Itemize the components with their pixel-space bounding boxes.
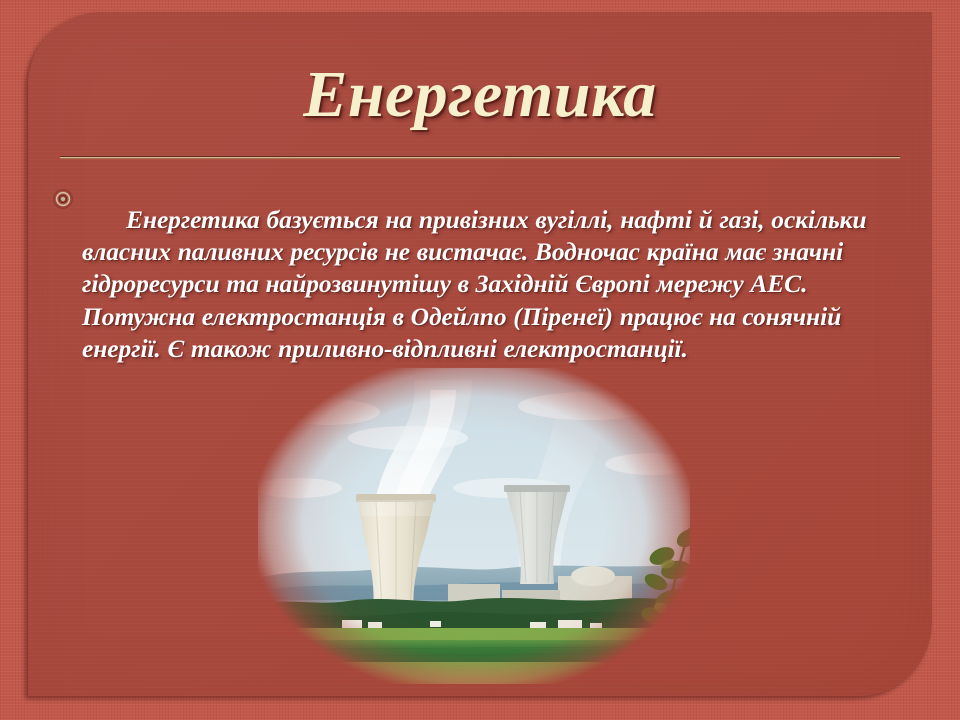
photo-image bbox=[258, 368, 690, 684]
title-divider bbox=[60, 156, 900, 159]
power-plant-photo bbox=[258, 368, 690, 684]
slide: Енергетика Енергетика базується на приві… bbox=[0, 0, 960, 720]
target-bullet-icon bbox=[52, 188, 74, 210]
page-title: Енергетика bbox=[28, 62, 932, 128]
body-paragraph: Енергетика базується на привізних вугілл… bbox=[82, 204, 912, 366]
content-panel: Енергетика Енергетика базується на приві… bbox=[28, 12, 932, 696]
bullet-list: Енергетика базується на привізних вугілл… bbox=[46, 178, 912, 391]
